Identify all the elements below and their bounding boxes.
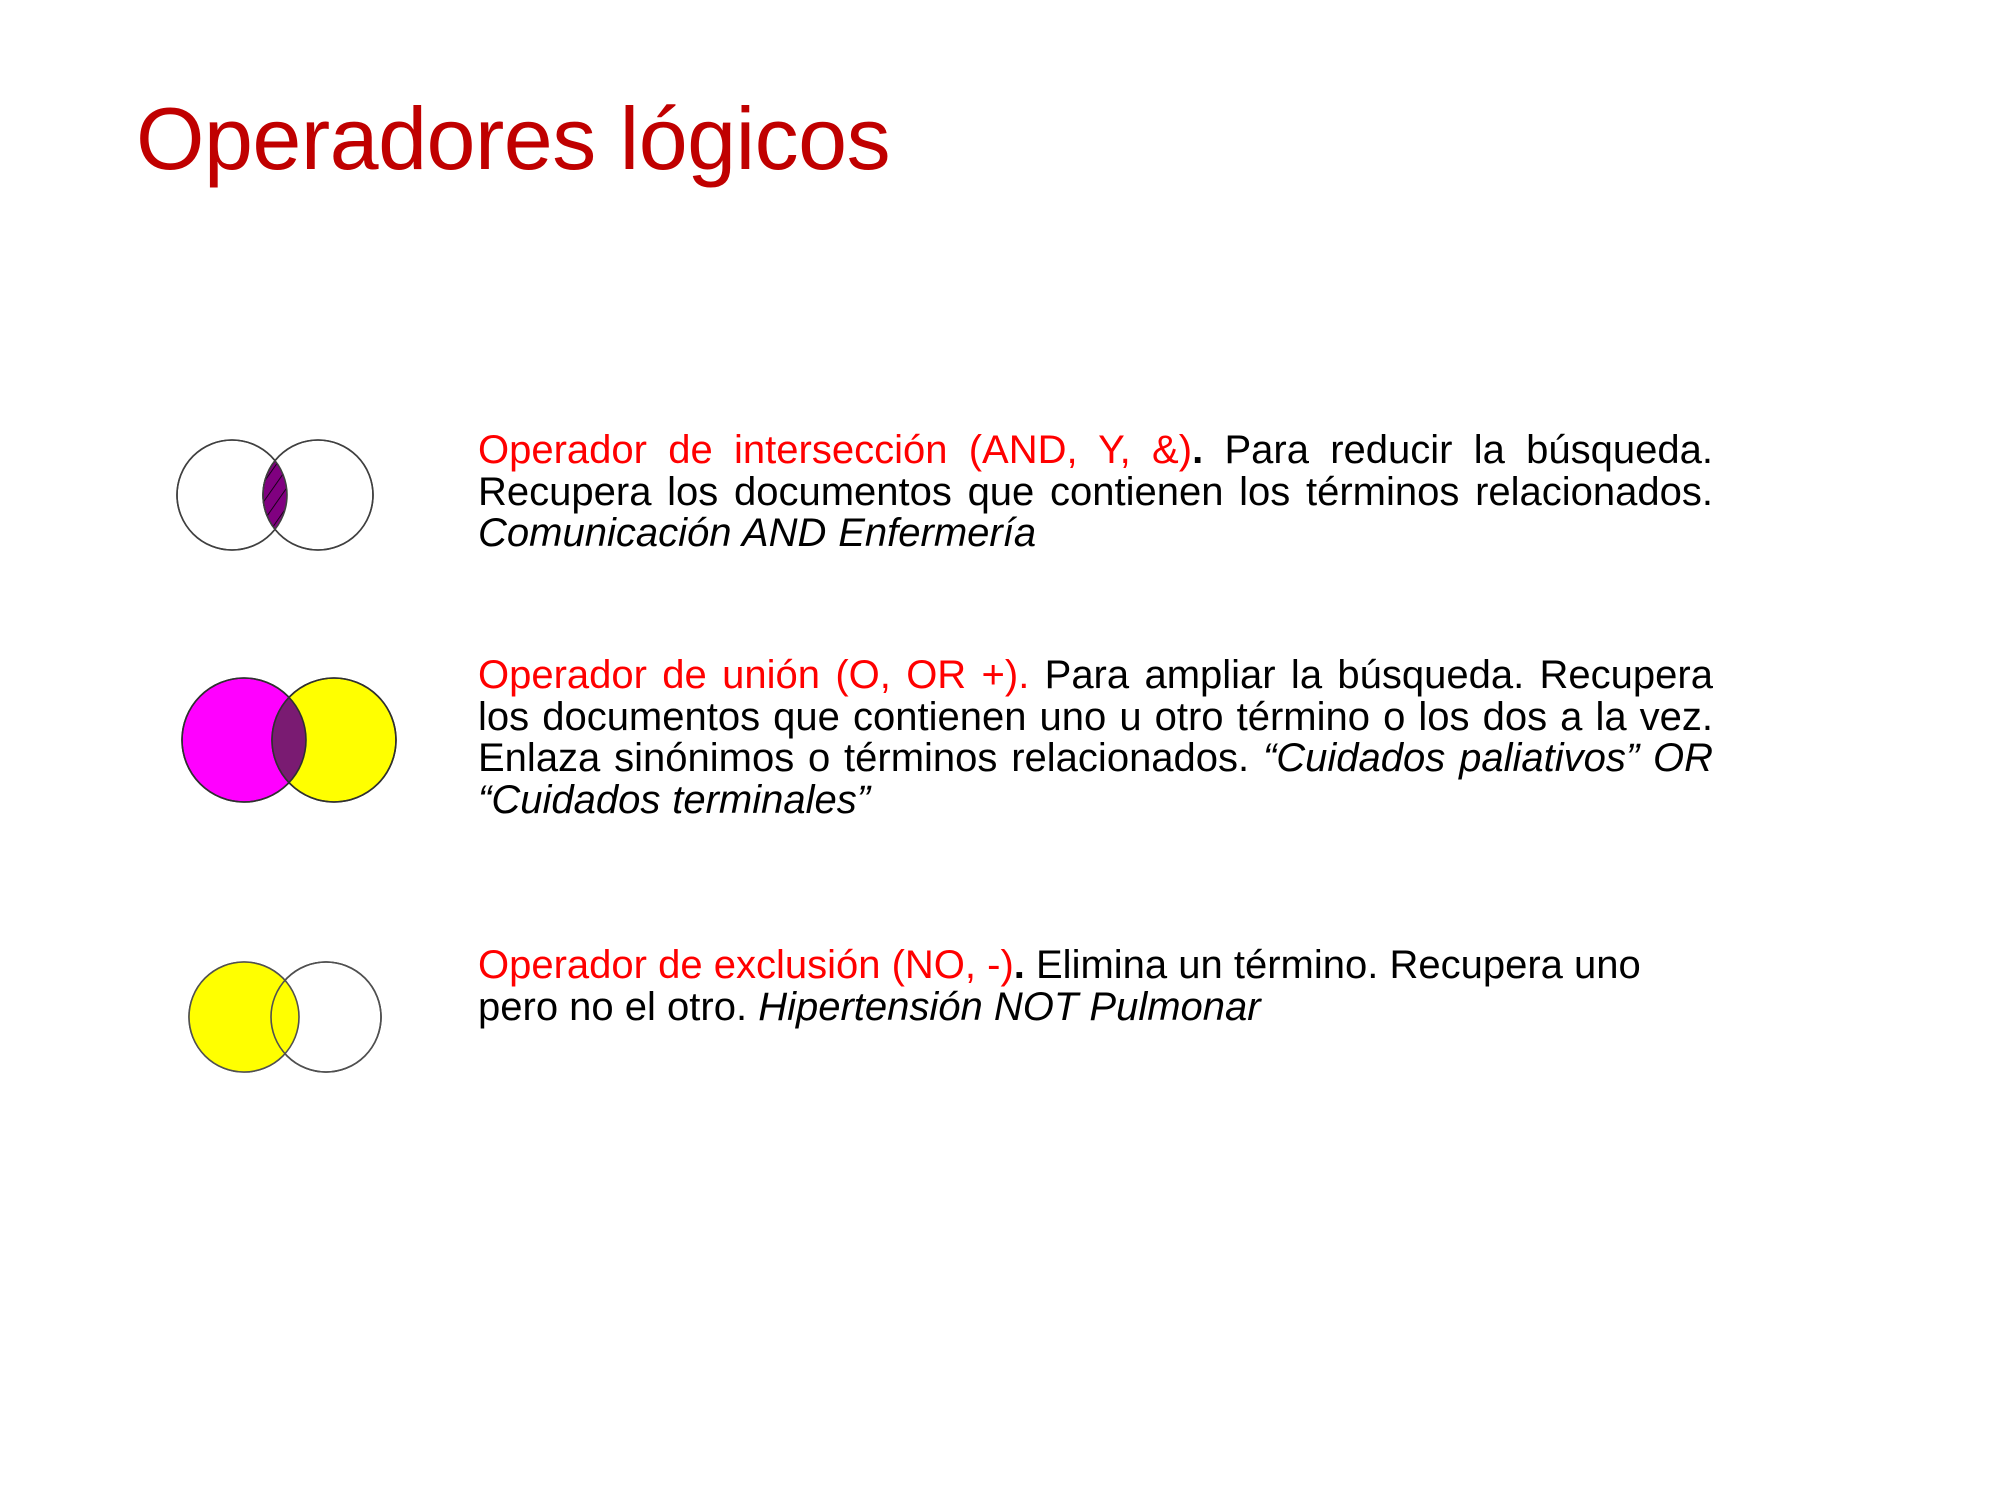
operator-lead-union: Operador de unión (O, OR +).: [478, 653, 1029, 697]
venn-exclusion-not-icon: [168, 955, 408, 1080]
operator-description-union: Operador de unión (O, OR +). Para amplia…: [478, 655, 1713, 821]
operator-example-interseccion: Comunicación AND Enfermería: [478, 511, 1036, 555]
venn-union-or-icon: [168, 663, 408, 818]
page-title: Operadores lógicos: [136, 95, 890, 183]
operator-lead-period-exclusion: .: [1014, 943, 1025, 987]
operator-example-exclusion: Hipertensión NOT Pulmonar: [758, 985, 1260, 1029]
operator-description-exclusion: Operador de exclusión (NO, -). Elimina u…: [478, 945, 1713, 1028]
operator-description-interseccion: Operador de intersección (AND, Y, &). Pa…: [478, 430, 1713, 555]
operator-lead-interseccion: Operador de intersección (AND, Y, &): [478, 428, 1192, 472]
operator-lead-period-interseccion: .: [1192, 428, 1203, 472]
slide-canvas: Operadores lógicos: [0, 0, 2000, 1500]
venn-intersection-and-icon: [160, 438, 400, 553]
operator-lead-exclusion: Operador de exclusión (NO, -): [478, 943, 1014, 987]
